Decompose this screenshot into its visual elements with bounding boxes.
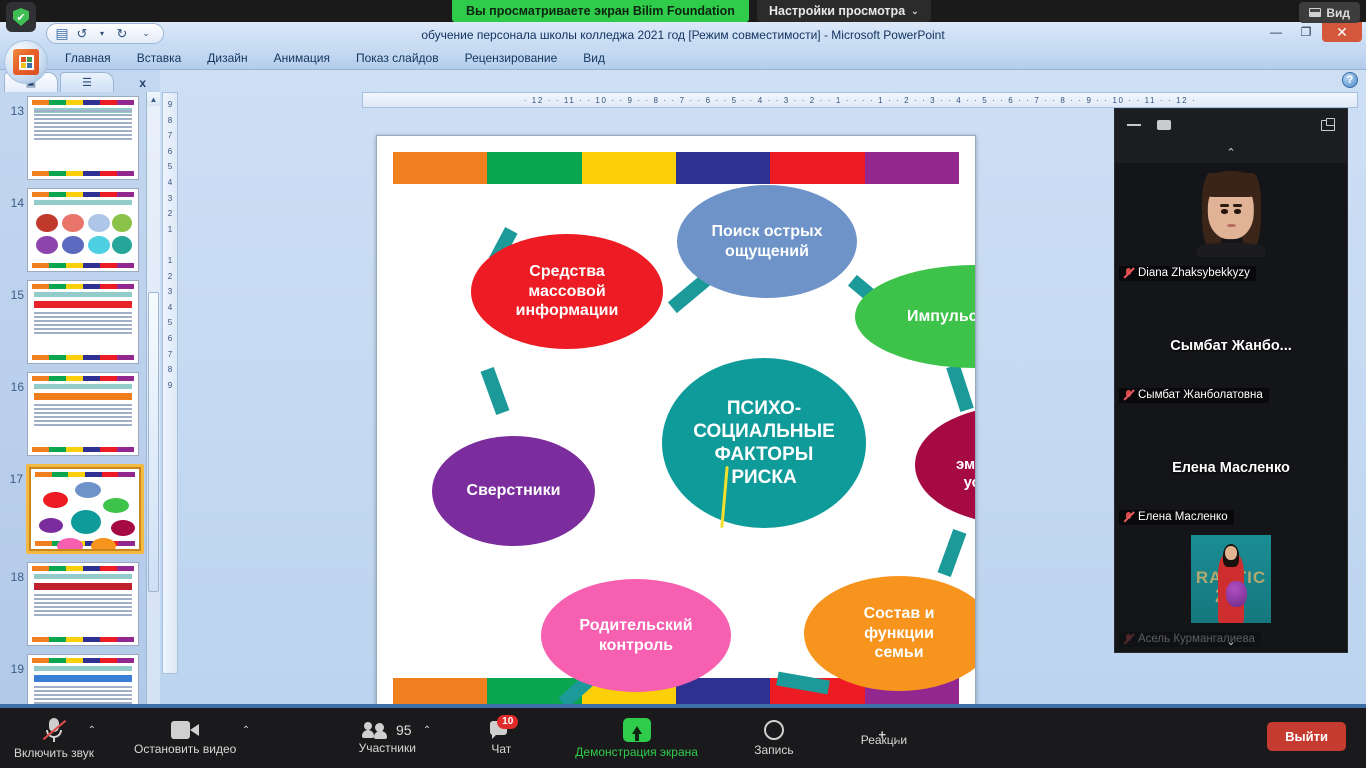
unmute-label: Включить звук (14, 746, 94, 760)
participant-tile[interactable]: Сымбат Жанбо...Сымбат Жанболатовна (1115, 285, 1347, 407)
thumbnail-image[interactable] (27, 96, 139, 180)
audio-options-caret[interactable]: ⌃ (88, 725, 96, 736)
camera-icon (171, 721, 199, 739)
reactions-button[interactable]: + Реакции (848, 708, 920, 768)
security-shield-button[interactable]: ✔ (6, 2, 36, 32)
participant-name: Елена Масленко (1138, 511, 1228, 523)
participants-caret[interactable]: ⌃ (423, 725, 431, 736)
diagram-node-label: Состав ифункциисемьи (864, 604, 935, 663)
outline-tab[interactable]: ☰ (60, 72, 114, 92)
vertical-ruler: 987654321 123456789 (162, 92, 178, 674)
ribbon-tab-strip: Главная Вставка Дизайн Анимация Показ сл… (0, 47, 1366, 70)
record-icon (764, 720, 784, 740)
diagram-node-label: Поиск острыхощущений (711, 222, 822, 261)
diagram-node-label: Средствамассовойинформации (516, 262, 619, 321)
popout-icon[interactable] (1321, 120, 1335, 131)
color-band (393, 152, 487, 184)
color-band (582, 152, 676, 184)
scroll-up-arrow[interactable]: ▲ (147, 92, 160, 106)
thumb-bottom-bar (32, 355, 134, 360)
view-button[interactable]: Вид (1299, 2, 1360, 23)
horizontal-ruler: · 12 · · 11 · · 10 · · 9 · · 8 · · 7 · ·… (362, 92, 1358, 108)
view-settings-label: Настройки просмотра (769, 4, 905, 18)
thumb-top-bar (32, 658, 134, 663)
stop-video-button[interactable]: Остановить видео ⌃ (134, 708, 236, 768)
participant-video-list[interactable]: Diana ZhaksybekkyzyСымбат Жанбо...Сымбат… (1115, 163, 1347, 652)
thumb-bottom-bar (32, 263, 134, 268)
mic-muted-icon (1123, 511, 1134, 523)
participant-name-badge: Diana Zhaksybekkyzy (1119, 266, 1256, 281)
color-band (487, 152, 581, 184)
leave-meeting-button[interactable]: Выйти (1267, 722, 1346, 751)
stop-video-label: Остановить видео (134, 742, 236, 756)
thumbnail-scrollbar[interactable]: ▲ (146, 92, 160, 708)
thumbnail-selected[interactable] (26, 464, 144, 554)
close-pane-button[interactable]: x (139, 76, 146, 90)
slide-thumbnail-pane: ▣ ☰ x 13141516171819 ▲ (0, 70, 160, 708)
diagram-connector (481, 367, 510, 415)
zoom-meeting-toolbar: Включить звук ⌃ Остановить видео ⌃ 95 Уч… (0, 708, 1366, 768)
restore-button[interactable]: ❐ (1292, 22, 1320, 42)
collapse-panel-button[interactable]: ⌃ (1115, 141, 1347, 163)
close-button[interactable]: ✕ (1322, 22, 1362, 42)
thumbnail-number: 15 (4, 280, 24, 302)
show-more-participants[interactable]: ⌄ (1115, 630, 1347, 652)
participant-video (1191, 169, 1271, 257)
zoom-share-banner: Вы просматриваете экран Bilim Foundation… (0, 0, 1366, 22)
sharing-notice: Вы просматриваете экран Bilim Foundation (452, 0, 749, 22)
thumb-top-bar (32, 566, 134, 571)
participant-name: Diana Zhaksybekkyzy (1138, 267, 1250, 279)
help-icon[interactable]: ? (1342, 72, 1358, 88)
participant-count: 95 (396, 722, 412, 738)
slide-top-color-bar (393, 152, 959, 184)
thumbnail-image[interactable] (27, 188, 139, 272)
thumb-bottom-bar (32, 637, 134, 642)
tab-animation[interactable]: Анимация (261, 48, 343, 69)
diagram-node-label: Родительскийконтроль (579, 616, 692, 655)
tab-slideshow[interactable]: Показ слайдов (343, 48, 452, 69)
thumbnail-row[interactable]: 14 (4, 188, 144, 272)
participant-display-name: Сымбат Жанбо... (1115, 338, 1347, 354)
thumbnail-number: 16 (4, 372, 24, 394)
thumb-top-bar (32, 376, 134, 381)
share-screen-button[interactable]: Демонстрация экрана (575, 708, 698, 768)
participant-display-name: Елена Масленко (1115, 460, 1347, 476)
record-label: Запись (754, 743, 793, 757)
participant-name: Сымбат Жанболатовна (1138, 389, 1263, 401)
color-band (676, 152, 770, 184)
chevron-down-icon: ⌄ (911, 6, 919, 17)
tab-view[interactable]: Вид (570, 48, 618, 69)
diagram-node[interactable]: Сверстники (432, 436, 595, 546)
thumbnail-row[interactable]: 17 (4, 464, 144, 554)
chat-button[interactable]: 10 Чат (465, 708, 537, 768)
thumb-bottom-bar (32, 171, 134, 176)
participant-name-badge: Сымбат Жанболатовна (1119, 388, 1269, 403)
mic-muted-icon (1123, 267, 1134, 279)
participants-label: Участники (359, 741, 416, 755)
zoom-panel-toolbar (1115, 109, 1347, 141)
thumbnail-row[interactable]: 19 (4, 654, 144, 708)
thumbnail-list[interactable]: 13141516171819 (0, 92, 146, 708)
participant-name-badge: Елена Масленко (1119, 510, 1234, 525)
diagram-node[interactable]: Низкаяэмоциональнаяустойчивость (915, 406, 976, 524)
office-button[interactable] (4, 40, 48, 84)
people-icon (363, 722, 389, 738)
diagram-center-label: ПСИХО-СОЦИАЛЬНЫЕФАКТОРЫРИСКА (693, 397, 835, 490)
thumbnail-row[interactable]: 18 (4, 562, 144, 646)
participant-video: RANTIC2 9 (1191, 535, 1271, 623)
diagram-node[interactable]: Поиск острыхощущений (677, 185, 857, 298)
diagram-node[interactable]: Средствамассовойинформации (471, 234, 663, 349)
chat-unread-badge: 10 (497, 715, 518, 729)
thumbnail-row[interactable]: 15 (4, 280, 144, 364)
powerpoint-titlebar: ▤ ↺ ▾ ↻ ⌄ обучение персонала школы колле… (0, 22, 1366, 47)
thumb-top-bar (32, 192, 134, 197)
unmute-button[interactable]: Включить звук ⌃ (14, 708, 94, 768)
thumb-bottom-bar (32, 447, 134, 452)
window-title: обучение персонала школы колледжа 2021 г… (0, 28, 1366, 42)
thumbnail-number: 18 (4, 562, 24, 584)
tab-review[interactable]: Рецензирование (452, 48, 571, 69)
diagram-node[interactable]: Состав ифункциисемьи (804, 576, 976, 691)
slide-canvas[interactable]: Поиск острыхощущенийИмпульсивностьНизкая… (376, 135, 976, 708)
minimize-icon[interactable] (1127, 124, 1141, 126)
view-settings-button[interactable]: Настройки просмотра ⌄ (757, 0, 931, 22)
thumbnail-image[interactable] (27, 280, 139, 364)
diagram-center-node[interactable]: ПСИХО-СОЦИАЛЬНЫЕФАКТОРЫРИСКА (662, 358, 866, 528)
diagram-node-label: Сверстники (467, 481, 561, 501)
video-options-caret[interactable]: ⌃ (242, 725, 250, 736)
participant-tile[interactable]: Елена МасленкоЕлена Масленко (1115, 407, 1347, 529)
thumbnail-image[interactable] (29, 467, 141, 551)
thumbnail-number: 17 (4, 464, 23, 486)
participant-tile[interactable]: Diana Zhaksybekkyzy (1115, 163, 1347, 285)
mic-muted-icon (43, 717, 65, 743)
office-logo-icon (13, 49, 39, 75)
tab-home[interactable]: Главная (52, 48, 124, 69)
thumb-diagram (31, 480, 139, 538)
scrollbar-thumb[interactable] (148, 292, 159, 592)
thumbnail-image[interactable] (27, 372, 139, 456)
chat-label: Чат (491, 742, 511, 756)
speaker-view-icon[interactable] (1157, 120, 1171, 130)
tab-insert[interactable]: Вставка (124, 48, 195, 69)
diagram-node-label: Низкаяэмоциональнаяустойчивость (956, 438, 976, 493)
view-button-label: Вид (1326, 6, 1350, 20)
thumbnail-row[interactable]: 13 (4, 96, 144, 180)
thumbnail-image[interactable] (27, 562, 139, 646)
thumb-top-bar (35, 472, 135, 477)
outline-tab-icon: ☰ (82, 76, 92, 89)
diagram-connector (938, 529, 967, 577)
thumbnail-number: 19 (4, 654, 24, 676)
window-controls: — ❐ ✕ (1262, 22, 1362, 42)
view-icon (1309, 8, 1321, 17)
diagram-node-label: Импульсивность (907, 307, 976, 327)
thumb-top-bar (32, 100, 134, 105)
thumb-top-bar (32, 284, 134, 289)
tab-design[interactable]: Дизайн (194, 48, 260, 69)
grid-view-icon[interactable] (1217, 119, 1230, 132)
share-screen-icon (623, 718, 651, 742)
record-button[interactable]: Запись (738, 708, 810, 768)
chat-icon: 10 (490, 721, 512, 739)
shield-icon: ✔ (13, 8, 29, 26)
diagram-connector (946, 364, 974, 412)
thumb-bottom-bar (35, 541, 135, 546)
thumbnail-image[interactable] (27, 654, 139, 708)
thumbnail-number: 14 (4, 188, 24, 210)
color-band (865, 152, 959, 184)
share-screen-label: Демонстрация экрана (575, 745, 698, 759)
diagram-node[interactable]: Импульсивность (855, 265, 976, 368)
diagram-node[interactable]: Родительскийконтроль (541, 579, 731, 692)
color-band (770, 152, 864, 184)
mic-muted-icon (1123, 389, 1134, 401)
zoom-video-panel[interactable]: ⌃ Diana ZhaksybekkyzyСымбат Жанбо...Сымб… (1114, 108, 1348, 653)
thumbnail-row[interactable]: 16 (4, 372, 144, 456)
gallery-split-icon[interactable] (1187, 120, 1201, 131)
participants-button[interactable]: 95 Участники ⌃ (351, 708, 423, 768)
minimize-button[interactable]: — (1262, 22, 1290, 42)
thumbnail-number: 13 (4, 96, 24, 118)
